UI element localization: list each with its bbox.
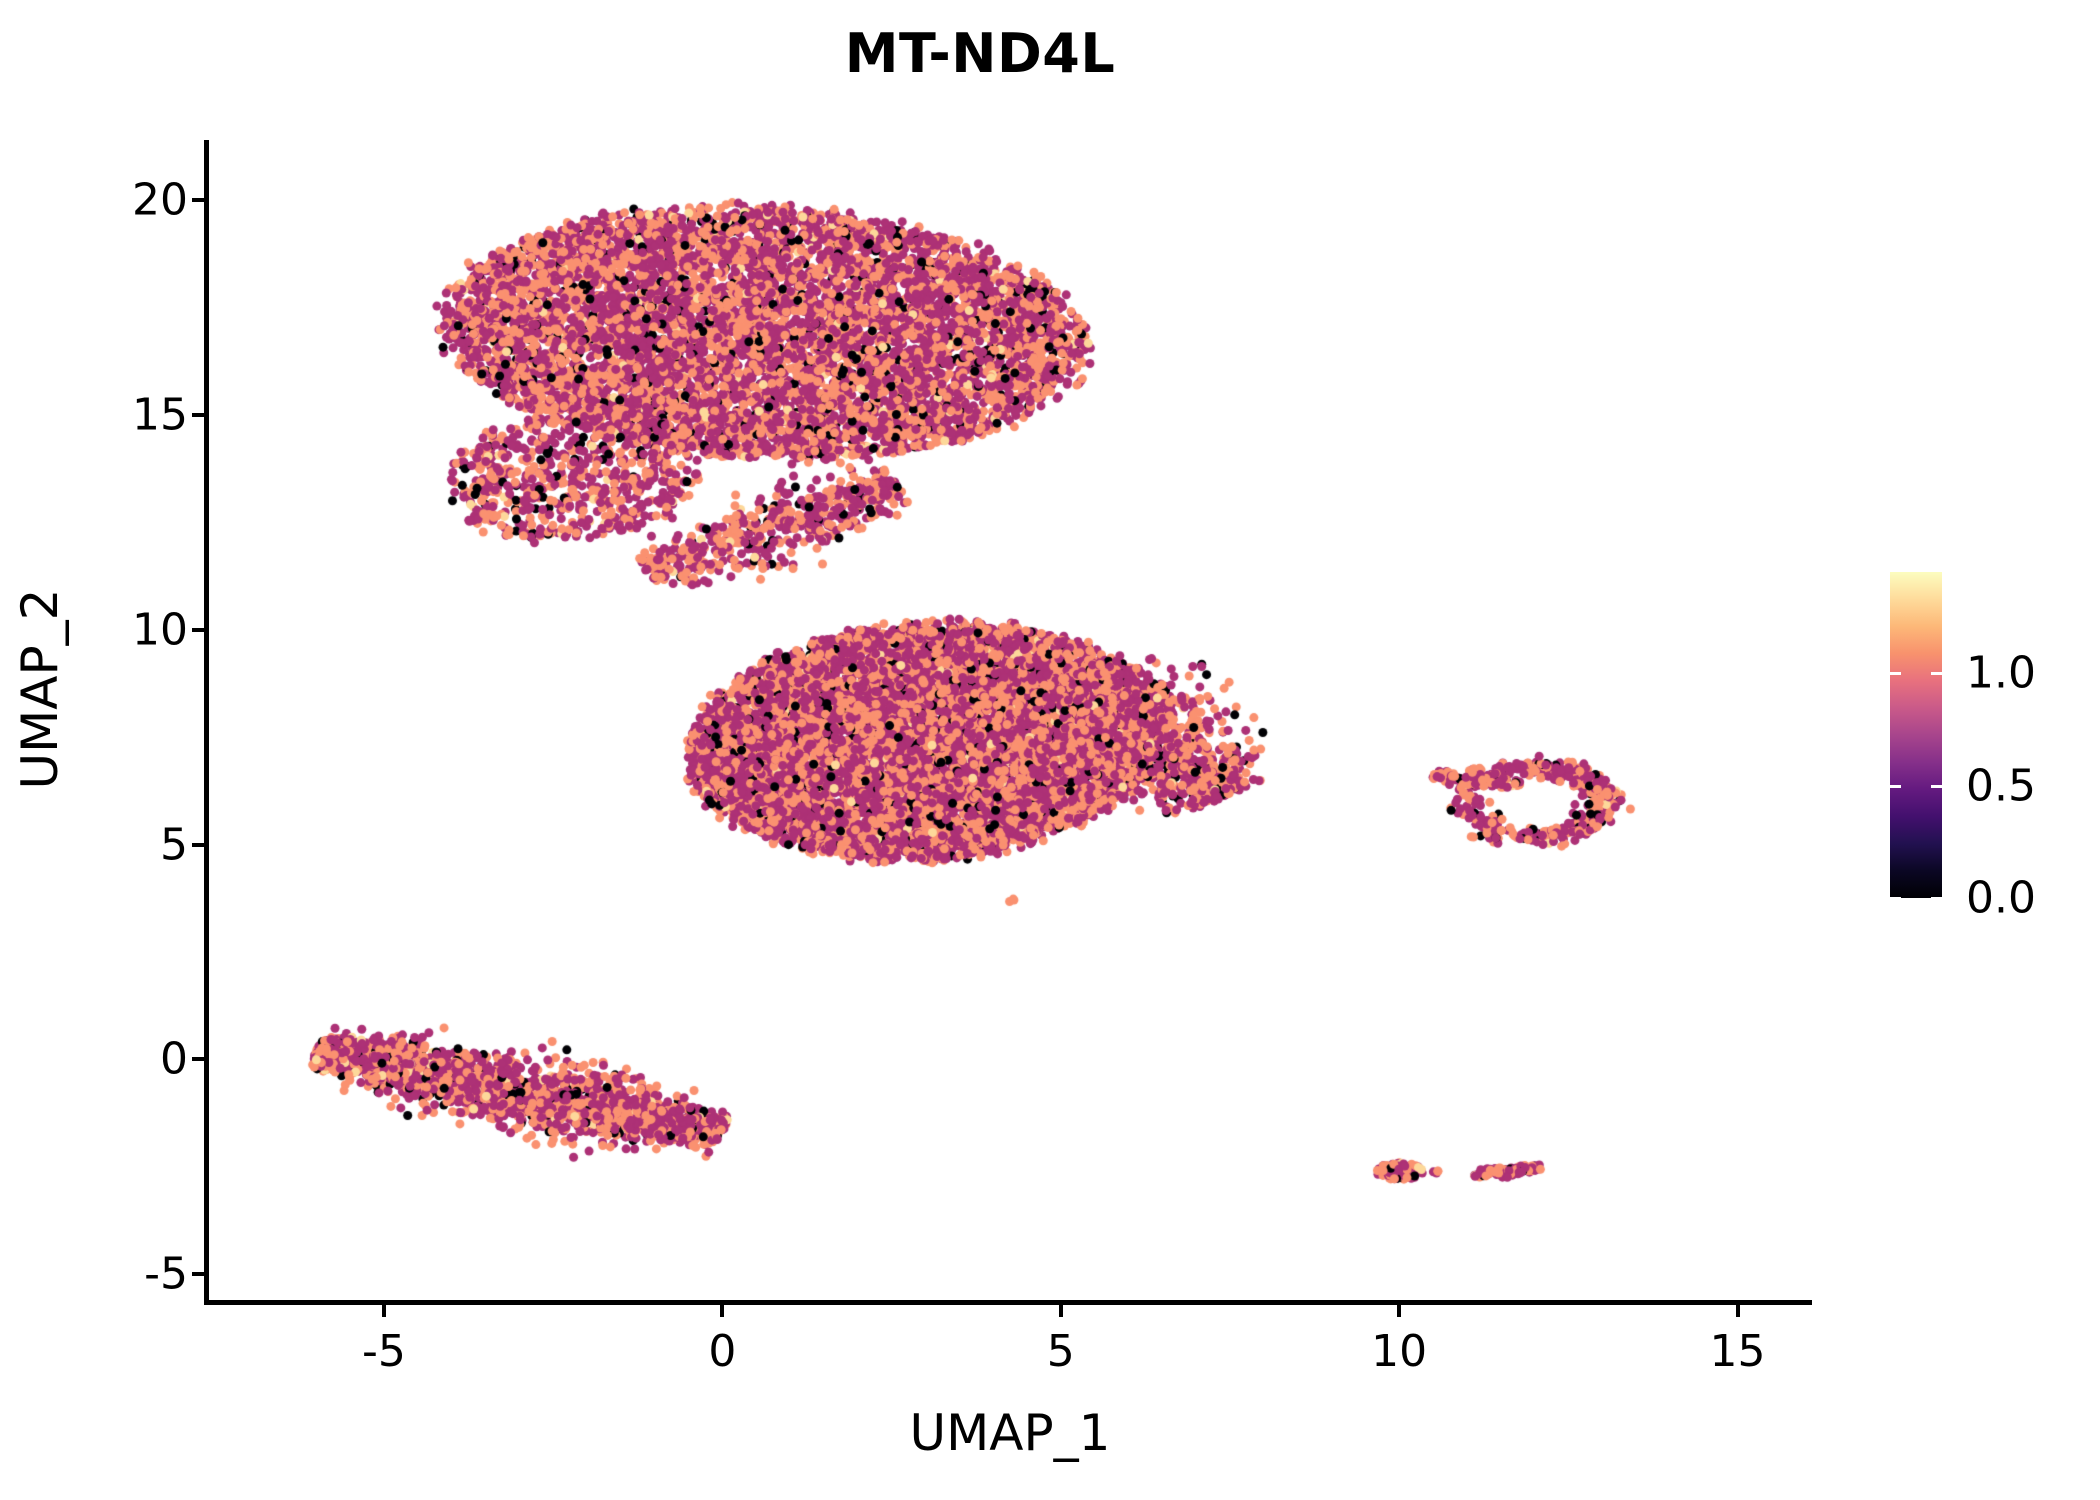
y-axis-label: UMAP_2 [11, 109, 69, 1269]
colorbar-tick-mark [1931, 785, 1942, 788]
y-tick-mark [192, 628, 204, 632]
x-tick-mark [1397, 1305, 1401, 1317]
page-title: MT-ND4L [0, 22, 1960, 85]
x-axis-spine [204, 1300, 1812, 1305]
y-tick-mark [192, 1057, 204, 1061]
y-tick-label: 15 [132, 389, 188, 440]
y-tick-mark [192, 1272, 204, 1276]
x-tick-label: 10 [1371, 1326, 1427, 1377]
colorbar-tick-mark [1890, 672, 1901, 675]
y-axis-spine [204, 140, 209, 1301]
scatter-canvas [208, 140, 1812, 1300]
y-tick-mark [192, 843, 204, 847]
x-tick-label: 15 [1710, 1326, 1766, 1377]
x-tick-mark [1736, 1305, 1740, 1317]
x-tick-label: -5 [362, 1326, 406, 1377]
umap-feature-plot: MT-ND4L -505101520 -5051015 UMAP_1 UMAP_… [0, 0, 2100, 1500]
y-tick-label: 0 [160, 1034, 188, 1085]
x-tick-label: 0 [708, 1326, 736, 1377]
colorbar: 0.00.51.0 [1890, 572, 2090, 902]
y-tick-mark [192, 413, 204, 417]
x-tick-mark [720, 1305, 724, 1317]
x-tick-label: 5 [1047, 1326, 1075, 1377]
y-tick-label: 5 [160, 819, 188, 870]
colorbar-tick-label: 0.5 [1966, 760, 2036, 811]
colorbar-tick-mark [1890, 785, 1901, 788]
y-tick-label: -5 [144, 1249, 188, 1300]
y-tick-label: 10 [132, 604, 188, 655]
colorbar-tick-mark [1931, 897, 1942, 900]
colorbar-gradient [1890, 572, 1942, 898]
x-tick-mark [382, 1305, 386, 1317]
colorbar-tick-label: 1.0 [1966, 648, 2036, 699]
x-axis-label: UMAP_1 [208, 1404, 1812, 1462]
y-tick-mark [192, 198, 204, 202]
plot-axes: -505101520 -5051015 [208, 140, 1812, 1300]
x-tick-mark [1059, 1305, 1063, 1317]
colorbar-tick-label: 0.0 [1966, 873, 2036, 924]
colorbar-tick-mark [1890, 897, 1901, 900]
y-tick-label: 20 [132, 175, 188, 226]
colorbar-tick-mark [1931, 672, 1942, 675]
